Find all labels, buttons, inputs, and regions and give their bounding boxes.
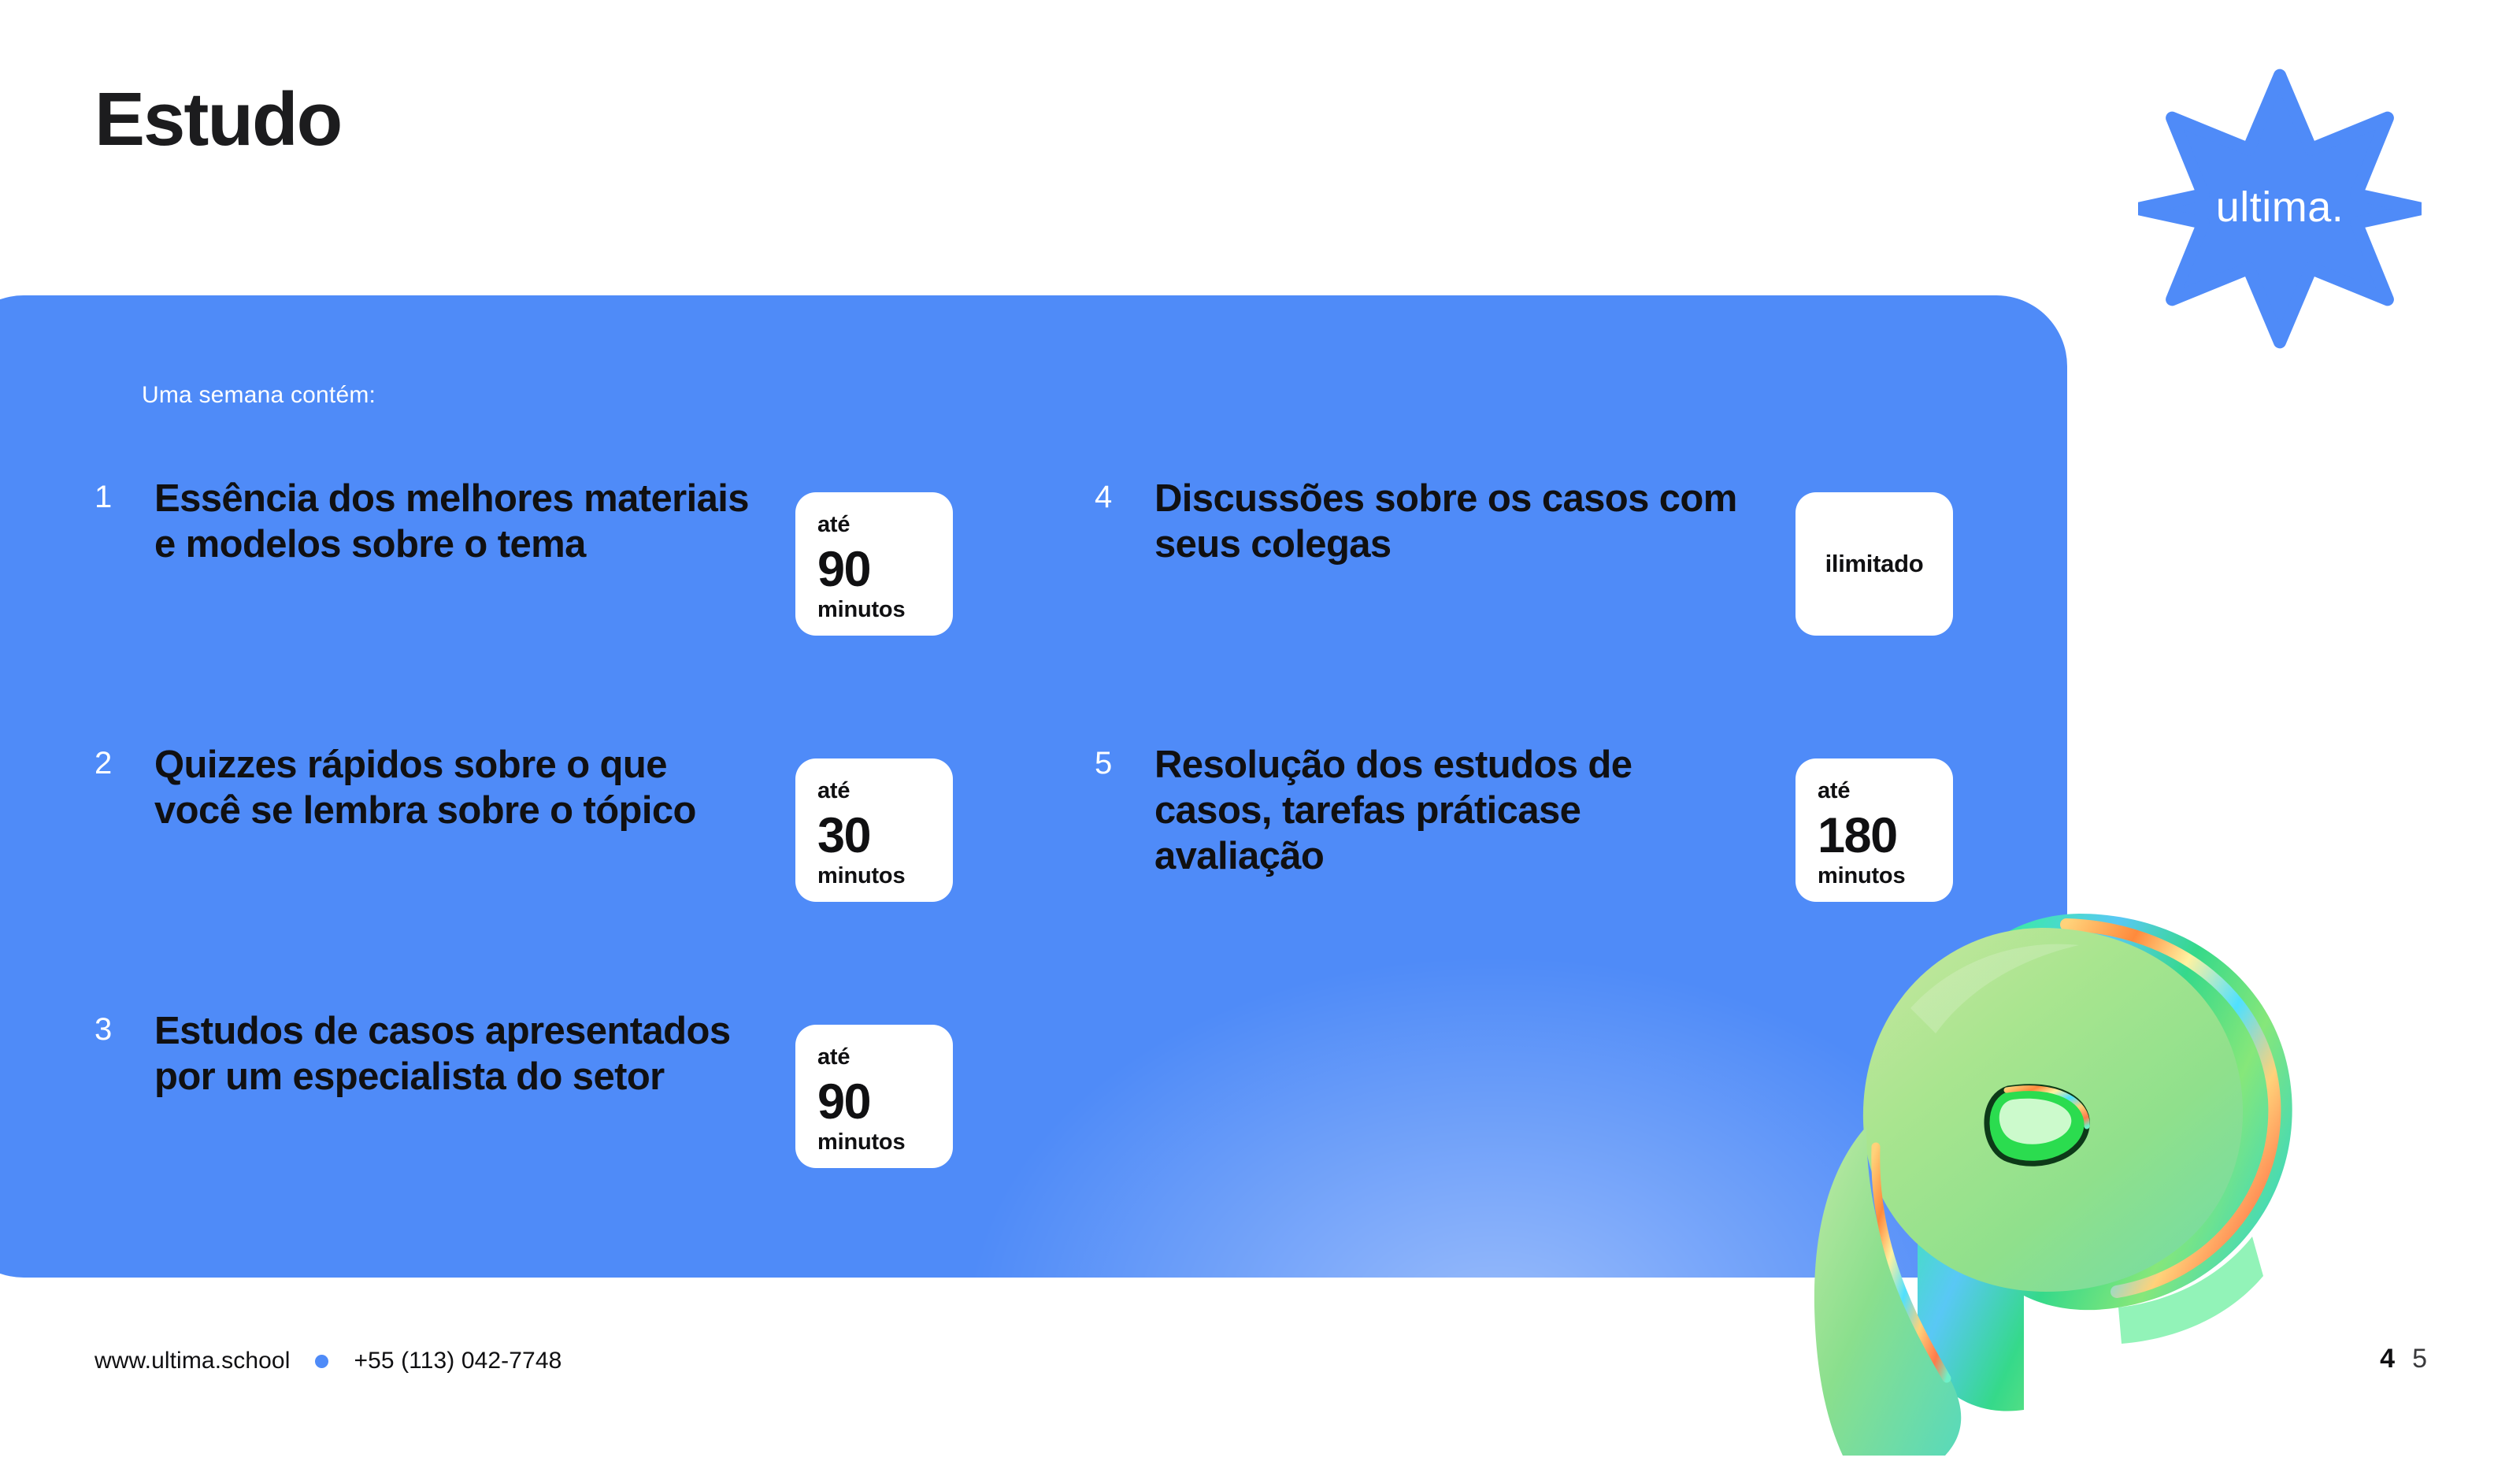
badge-value: 90: [817, 543, 953, 596]
item-text: Estudos de casos apresentados por um esp…: [154, 1009, 753, 1100]
badge-unit: minutos: [1818, 864, 1953, 889]
badge-prefix: até: [817, 779, 953, 804]
badge-unit: minutos: [817, 598, 953, 623]
unlimited-badge: ilimitado: [1795, 492, 1953, 636]
list-item: 1 Essência dos melhores materiais e mode…: [94, 477, 976, 705]
list-item: 2 Quizzes rápidos sobre o que você se le…: [94, 743, 976, 971]
items-column-right: 4 Discussões sobre os casos com seus col…: [1095, 477, 1992, 971]
item-number: 5: [1095, 747, 1139, 779]
list-item: 5 Resolução dos estudos de casos, tarefa…: [1095, 743, 1992, 971]
items-column-left: 1 Essência dos melhores materiais e mode…: [94, 477, 976, 1237]
page-indicator: 4 5: [2380, 1344, 2427, 1374]
duration-badge: até 90 minutos: [795, 1025, 953, 1168]
panel-light-glow: [945, 941, 2047, 1278]
footer-website[interactable]: www.ultima.school: [94, 1348, 290, 1374]
badge-unit: minutos: [817, 1130, 953, 1155]
page-number-current: 4: [2380, 1344, 2395, 1374]
item-text: Quizzes rápidos sobre o que você se lemb…: [154, 743, 753, 834]
item-text: Discussões sobre os casos com seus coleg…: [1154, 477, 1753, 568]
badge-prefix: até: [817, 1045, 953, 1070]
item-text: Resolução dos estudos de casos, tarefas …: [1154, 743, 1753, 879]
item-number: 2: [94, 747, 139, 779]
list-item: 3 Estudos de casos apresentados por um e…: [94, 1009, 976, 1237]
footer-separator-dot-icon: [315, 1355, 328, 1368]
logo-wordmark: ultima.: [2138, 43, 2422, 374]
duration-badge: até 30 minutos: [795, 758, 953, 902]
ultima-logo-badge: ultima.: [2138, 43, 2422, 374]
footer: www.ultima.school +55 (113) 042-7748: [94, 1348, 561, 1374]
duration-badge: até 90 minutos: [795, 492, 953, 636]
panel-kicker: Uma semana contém:: [142, 382, 376, 409]
badge-value: 180: [1818, 809, 1953, 862]
badge-unit: minutos: [817, 864, 953, 889]
item-number: 1: [94, 481, 139, 513]
page-number-total: 5: [2412, 1344, 2427, 1374]
footer-phone[interactable]: +55 (113) 042-7748: [354, 1348, 561, 1374]
duration-badge: até 180 minutos: [1795, 758, 1953, 902]
badge-prefix: até: [817, 513, 953, 538]
badge-label: ilimitado: [1825, 550, 1924, 578]
page-title: Estudo: [94, 82, 341, 158]
item-number: 3: [94, 1014, 139, 1045]
badge-prefix: até: [1818, 779, 1953, 804]
list-item: 4 Discussões sobre os casos com seus col…: [1095, 477, 1992, 705]
badge-value: 90: [817, 1075, 953, 1129]
item-text: Essência dos melhores materiais e modelo…: [154, 477, 753, 568]
item-number: 4: [1095, 481, 1139, 513]
badge-value: 30: [817, 809, 953, 862]
